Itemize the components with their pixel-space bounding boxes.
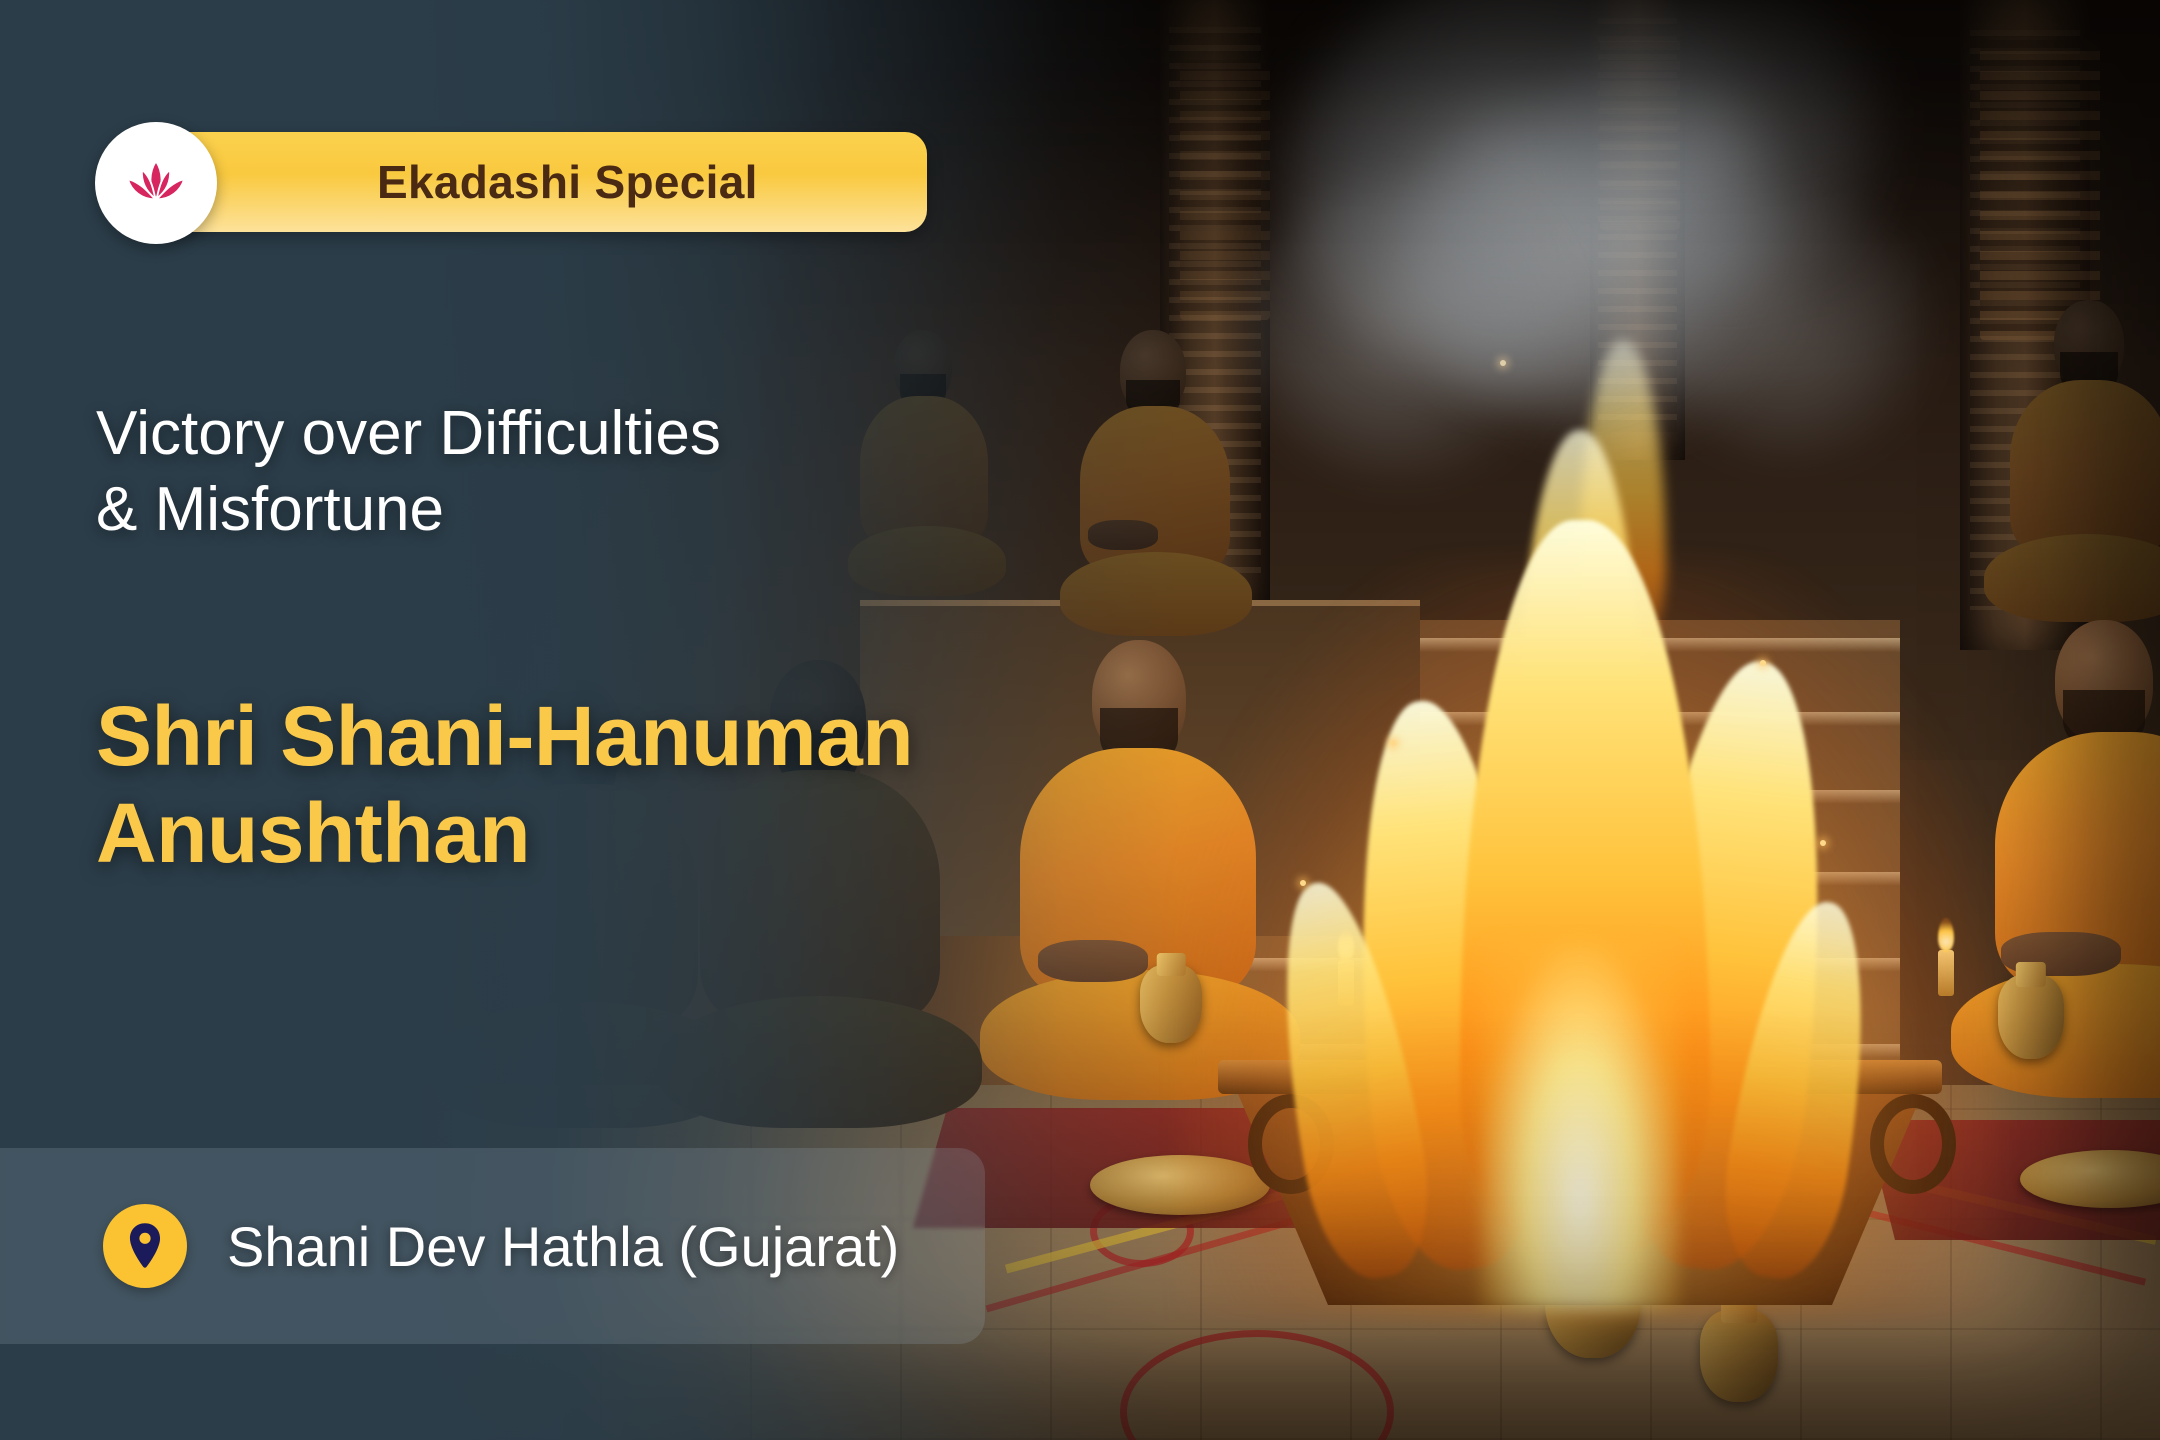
page-title: Shri Shani-Hanuman Anushthan [96,688,1176,883]
location-name: Shani Dev Hathla (Gujarat) [227,1214,899,1279]
badge-pill: Ekadashi Special [157,132,927,232]
map-pin-icon [125,1222,165,1270]
subtitle-line-2: & Misfortune [96,472,996,548]
map-pin-badge [103,1204,187,1288]
subtitle-line-1: Victory over Difficulties [96,396,996,472]
title-line-2: Anushthan [96,785,1176,882]
promo-banner: Ekadashi Special Victory over Difficulti… [0,0,2160,1440]
badge-icon-circle [95,122,217,244]
subtitle-block: Victory over Difficulties & Misfortune [96,396,996,547]
badge-label: Ekadashi Special [377,155,758,209]
lotus-icon [117,144,195,222]
location-bar[interactable]: Shani Dev Hathla (Gujarat) [0,1148,985,1344]
title-line-1: Shri Shani-Hanuman [96,688,1176,785]
